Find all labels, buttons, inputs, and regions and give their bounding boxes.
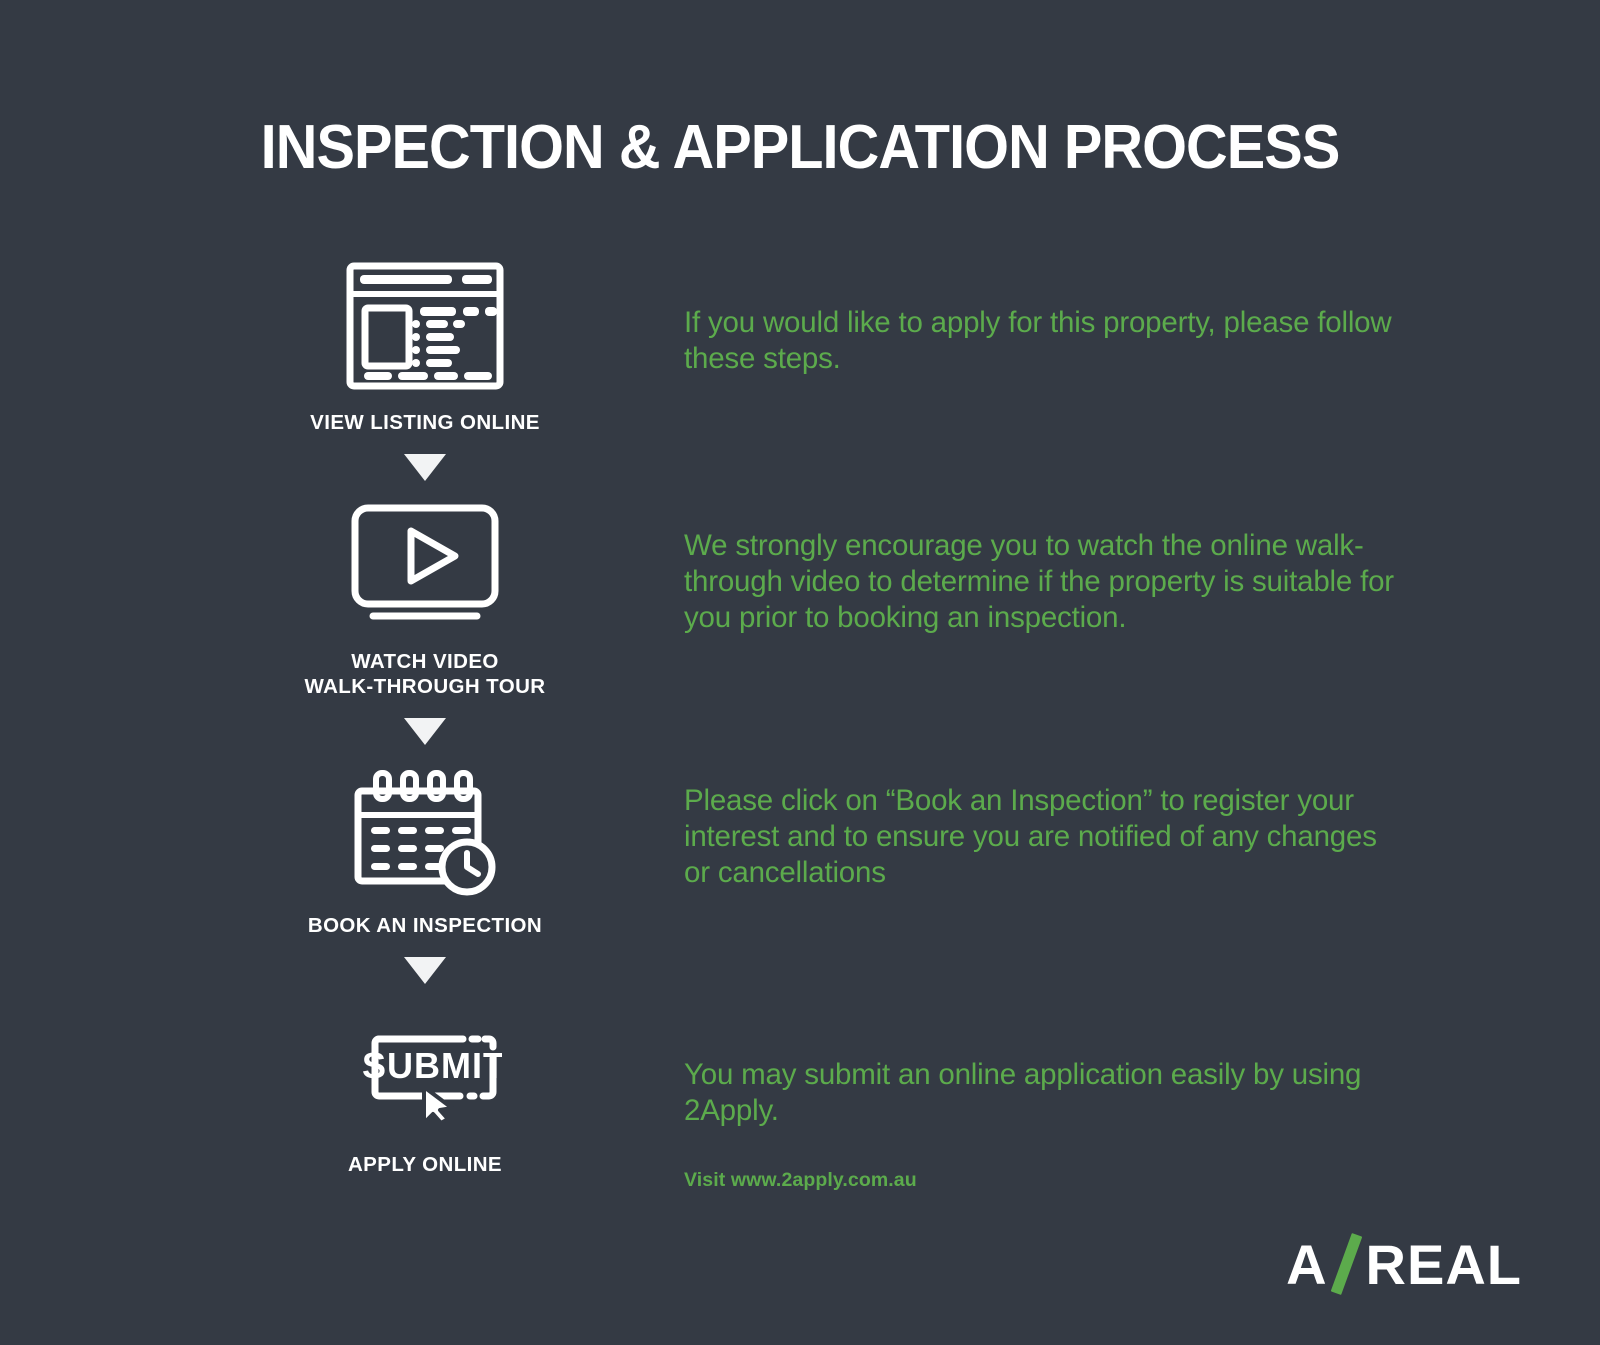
copy-text-3: Please click on “Book an Inspection” to …	[684, 783, 1404, 891]
step-label-line2: WALK-THROUGH TOUR	[304, 674, 545, 700]
video-play-monitor-icon	[340, 497, 510, 633]
copy-block-book-inspection: Please click on “Book an Inspection” to …	[684, 783, 1404, 891]
copy-block-apply-intro: If you would like to apply for this prop…	[684, 305, 1404, 377]
copy-text-2: We strongly encourage you to watch the o…	[684, 528, 1404, 636]
submit-button-cursor-icon: SUBMIT	[340, 1000, 510, 1136]
flow-arrow-down-icon	[404, 718, 446, 745]
copy-block-watch-video: We strongly encourage you to watch the o…	[684, 528, 1404, 636]
page-title: INSPECTION & APPLICATION PROCESS	[56, 112, 1544, 183]
logo-word-real: REAL	[1366, 1232, 1522, 1297]
submit-icon-text: SUBMIT	[362, 1045, 502, 1086]
step-label-book-inspection: BOOK AN INSPECTION	[308, 913, 542, 939]
process-steps-column: VIEW LISTING ONLINE WATCH VIDEO WALK-THR…	[240, 258, 610, 1177]
calendar-clock-icon	[340, 761, 510, 897]
flow-arrow-down-icon	[404, 454, 446, 481]
visit-2apply-link[interactable]: Visit www.2apply.com.au	[684, 1169, 1404, 1192]
logo-slash-icon	[1330, 1235, 1364, 1295]
brand-logo: A REAL	[1286, 1232, 1522, 1297]
copy-text-1: If you would like to apply for this prop…	[684, 305, 1404, 377]
logo-letter-a: A	[1286, 1232, 1327, 1297]
step-view-listing-online[interactable]: VIEW LISTING ONLINE	[240, 258, 610, 436]
step-book-inspection[interactable]: BOOK AN INSPECTION	[240, 761, 610, 939]
step-watch-video[interactable]: WATCH VIDEO WALK-THROUGH TOUR	[240, 497, 610, 700]
step-apply-online[interactable]: SUBMIT APPLY ONLINE	[240, 1000, 610, 1178]
flow-arrow-down-icon	[404, 957, 446, 984]
copy-block-apply-online: You may submit an online application eas…	[684, 1057, 1404, 1192]
copy-text-4: You may submit an online application eas…	[684, 1057, 1404, 1129]
browser-listing-icon	[340, 258, 510, 394]
step-label-apply-online: APPLY ONLINE	[348, 1152, 502, 1178]
step-label-view-listing: VIEW LISTING ONLINE	[310, 410, 540, 436]
step-label-watch-video: WATCH VIDEO WALK-THROUGH TOUR	[304, 649, 545, 700]
step-label-line1: WATCH VIDEO	[304, 649, 545, 675]
infographic-page: INSPECTION & APPLICATION PROCESS	[0, 0, 1600, 1345]
